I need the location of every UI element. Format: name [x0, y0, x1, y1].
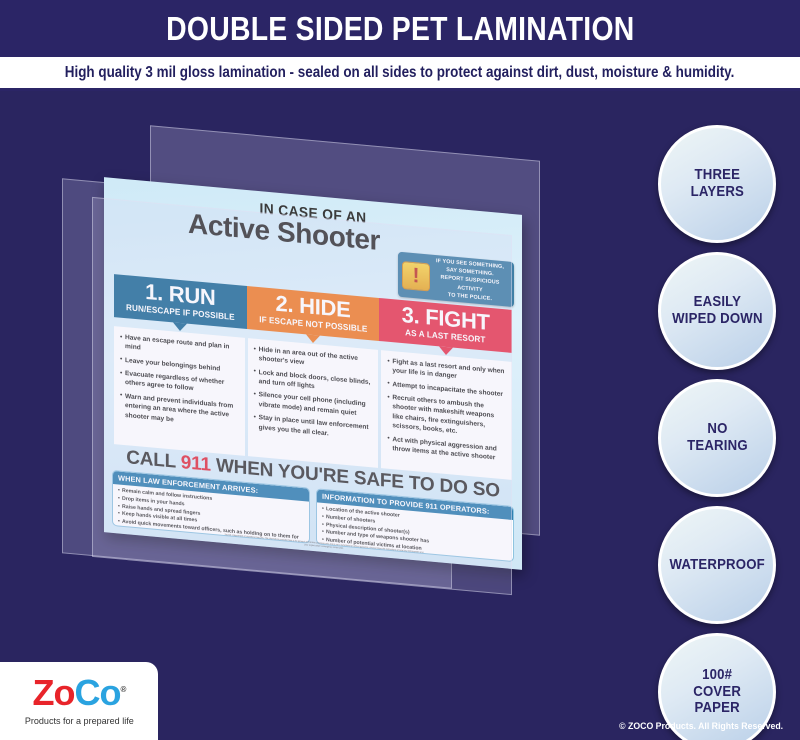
badge-0-line-2: LAYERS [690, 184, 743, 201]
bullet-column-fight: Fight as a last resort and only when you… [381, 350, 512, 480]
room-label: ROOM: [437, 559, 461, 562]
run-bullet-list: Have an escape route and plan in mindLea… [120, 333, 239, 431]
copyright-text: © ZOCO Products. All Rights Reserved. [619, 721, 783, 732]
badge-easily-wiped-down: EASILY WIPED DOWN [658, 252, 776, 370]
fight-bullet-list: Fight as a last resort and only when you… [387, 357, 506, 464]
subtitle-bar: High quality 3 mil gloss lamination - se… [0, 57, 800, 91]
badge-0-line-1: THREE [690, 167, 743, 184]
see-something-say-something-badge: ! IF YOU SEE SOMETHING, SAY SOMETHING. R… [398, 252, 514, 307]
call-banner-number: 911 [181, 452, 211, 476]
badge-1-line-1: EASILY [672, 294, 762, 311]
exclamation-icon: ! [402, 261, 430, 292]
badge-3-line-1: WATERPROOF [669, 557, 764, 574]
logo-co-text: Co [75, 672, 121, 713]
badge-2-line-2: TEARING [687, 438, 748, 455]
badge-waterproof-text: WATERPROOF [669, 557, 764, 574]
badge-easily-wiped-down-text: EASILY WIPED DOWN [672, 294, 762, 328]
badge-2-line-1: NO [687, 421, 748, 438]
brand-tagline: Products for a prepared life [25, 716, 134, 727]
step-header-fight: 3. FIGHT AS A LAST RESORT [379, 298, 512, 353]
subtitle-text: High quality 3 mil gloss lamination - se… [65, 64, 735, 82]
step-fight-pointer [439, 346, 453, 355]
poster-artwork: IN CASE OF AN Active Shooter ! IF YOU SE… [104, 177, 522, 570]
badge-waterproof: WATERPROOF [658, 506, 776, 624]
badge-4-line-1: 100# [693, 667, 741, 684]
bullet-column-run: Have an escape route and plan in mindLea… [114, 326, 245, 456]
step-header-hide: 2. HIDE IF ESCAPE NOT POSSIBLE [247, 286, 380, 341]
list-item: Recruit others to ambush the shooter wit… [387, 393, 506, 441]
room-input-line[interactable] [464, 562, 508, 563]
badge-4-line-3: PAPER [693, 700, 741, 717]
logo-zo-text: Zo [33, 672, 75, 713]
hide-bullet-list: Hide in an area out of the active shoote… [254, 345, 373, 443]
zoco-logo: ZoCo® [33, 675, 126, 711]
brand-logo-card: ZoCo® Products for a prepared life [0, 662, 158, 740]
feature-badge-list: THREE LAYERS EASILY WIPED DOWN NO TEARIN… [658, 125, 778, 740]
step-hide-pointer [306, 334, 320, 343]
step-run-pointer [173, 322, 187, 331]
warning-text: IF YOU SEE SOMETHING, SAY SOMETHING. REP… [430, 257, 510, 305]
badge-three-layers: THREE LAYERS [658, 125, 776, 243]
badge-no-tearing-text: NO TEARING [687, 421, 748, 455]
call-banner-pre: CALL [126, 447, 181, 473]
page-title: DOUBLE SIDED PET LAMINATION [166, 10, 634, 48]
header-bar: DOUBLE SIDED PET LAMINATION [0, 0, 800, 57]
badge-three-layers-text: THREE LAYERS [690, 167, 743, 201]
registered-trademark-icon: ® [121, 685, 126, 694]
badge-no-tearing: NO TEARING [658, 379, 776, 497]
badge-cover-paper-text: 100# COVER PAPER [693, 667, 741, 717]
badge-4-line-2: COVER [693, 684, 741, 701]
list-item: Warn and prevent individuals from enteri… [120, 391, 239, 430]
product-marketing-image: DOUBLE SIDED PET LAMINATION High quality… [0, 0, 800, 740]
step-header-run: 1. RUN RUN/ESCAPE IF POSSIBLE [114, 274, 247, 329]
badge-1-line-2: WIPED DOWN [672, 311, 762, 328]
bullet-column-hide: Hide in an area out of the active shoote… [248, 338, 379, 468]
